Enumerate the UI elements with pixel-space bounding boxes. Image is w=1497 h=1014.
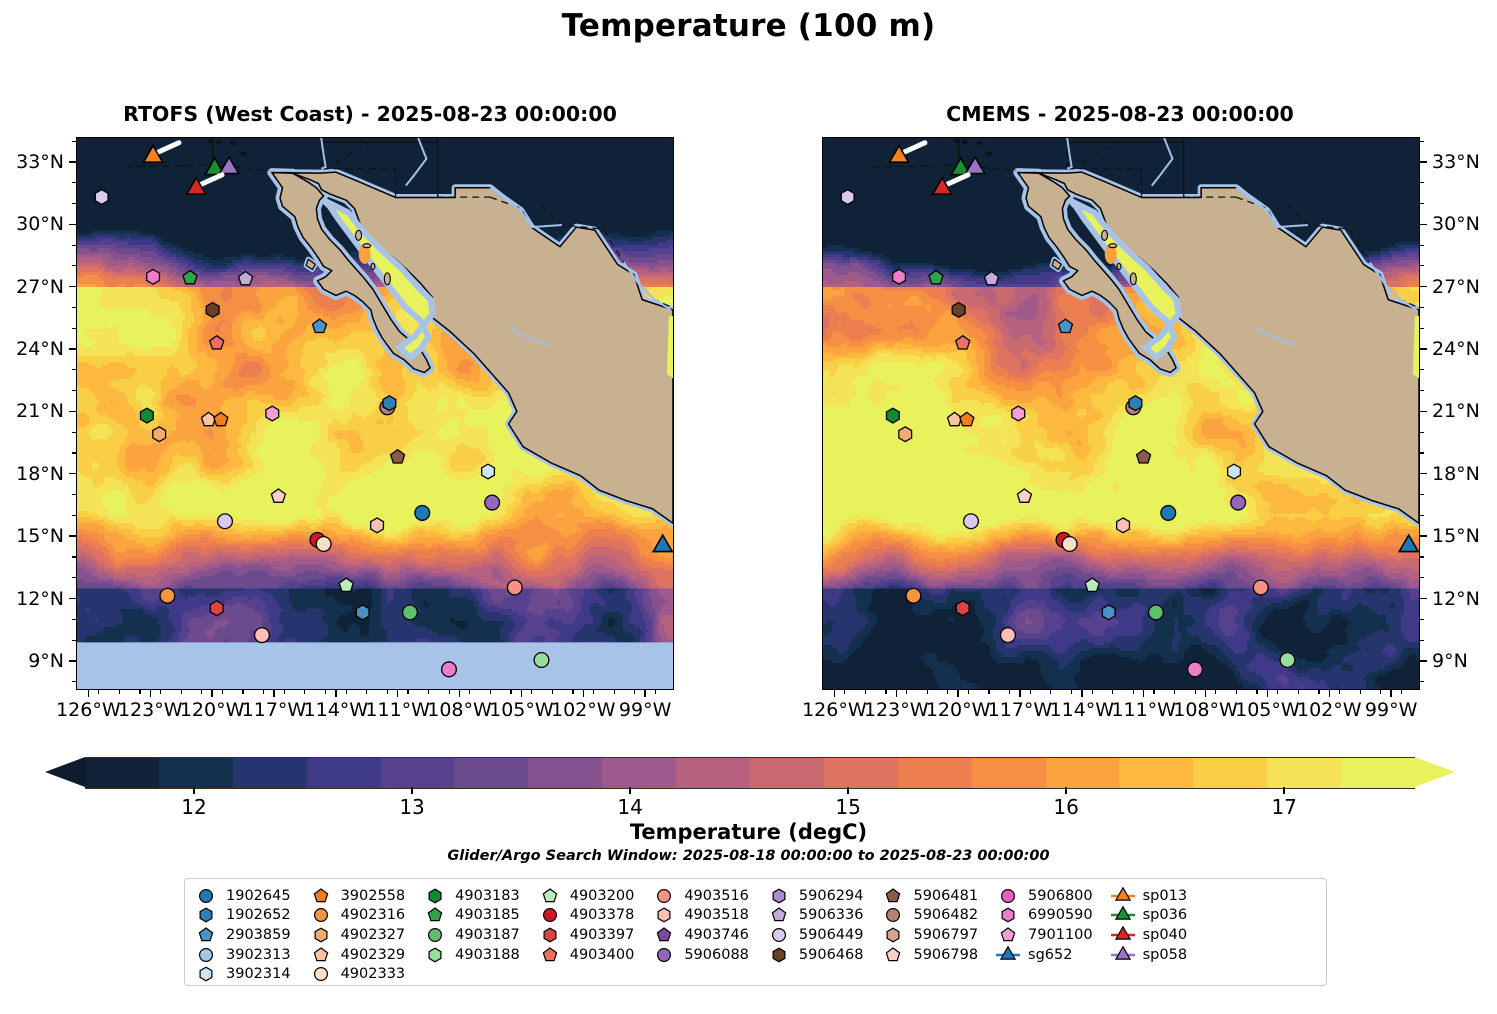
x-tick-label: 99°W — [1365, 699, 1417, 721]
y-minor-tick — [1420, 640, 1424, 641]
y-tick — [1420, 286, 1427, 287]
colorbar-segment — [159, 758, 233, 788]
x-tick-label: 123°W — [864, 699, 929, 721]
colorbar-segment — [1341, 758, 1415, 788]
legend-label: sp013 — [1143, 888, 1187, 904]
x-tick — [1390, 690, 1391, 697]
x-minor-tick — [885, 690, 886, 694]
colorbar-tick — [1065, 787, 1067, 794]
colorbar-tick — [193, 787, 195, 794]
hexagon-marker-icon — [308, 926, 334, 944]
colorbar-tick-label: 13 — [399, 795, 424, 819]
x-tick-label: 123°W — [118, 699, 183, 721]
x-minor-tick — [614, 690, 615, 694]
circle-marker-icon — [651, 887, 677, 905]
x-minor-tick — [634, 690, 635, 694]
legend-item-7901100[interactable]: 7901100 — [995, 925, 1093, 945]
y-tick-label: 30°N — [1432, 213, 1480, 235]
x-tick-label: 102°W — [1297, 699, 1362, 721]
colorbar-tick-label: 15 — [835, 795, 860, 819]
legend-item-5906481[interactable]: 5906481 — [880, 886, 978, 906]
legend-item-4902316[interactable]: 4902316 — [308, 906, 406, 926]
hexagon-marker-icon — [766, 946, 792, 964]
x-tick-label: 108°W — [427, 699, 492, 721]
x-minor-tick — [1318, 690, 1319, 694]
legend-item-4902327[interactable]: 4902327 — [308, 925, 406, 945]
x-tick-label: 120°W — [926, 699, 991, 721]
colorbar-segment — [1193, 758, 1267, 788]
legend-item-4903400[interactable]: 4903400 — [537, 945, 635, 965]
platform-legend: 1902645190265229038593902313390231439025… — [184, 878, 1327, 986]
legend-label: 4903400 — [570, 947, 635, 963]
x-minor-tick — [1092, 690, 1093, 694]
x-tick-label: 117°W — [988, 699, 1053, 721]
y-tick — [69, 535, 76, 536]
legend-item-1902652[interactable]: 1902652 — [193, 906, 291, 926]
x-minor-tick — [1030, 690, 1031, 694]
x-tick — [1205, 690, 1206, 697]
x-tick — [1081, 690, 1082, 697]
legend-label: 4903187 — [455, 927, 520, 943]
x-tick — [644, 690, 645, 697]
map-panel-rtofs[interactable] — [76, 137, 674, 690]
y-minor-tick — [1420, 390, 1424, 391]
y-tick — [69, 598, 76, 599]
legend-label: sp040 — [1143, 927, 1187, 943]
x-minor-tick — [510, 690, 511, 694]
y-minor-tick — [72, 182, 76, 183]
colorbar-gradient — [85, 757, 1415, 789]
legend-label: sg652 — [1028, 947, 1072, 963]
x-minor-tick — [407, 690, 408, 694]
x-minor-tick — [304, 690, 305, 694]
triangle-line-marker-icon — [995, 946, 1021, 964]
legend-label: 5906800 — [1028, 888, 1093, 904]
x-tick — [459, 690, 460, 697]
legend-item-1902645[interactable]: 1902645 — [193, 886, 291, 906]
x-tick-label: 108°W — [1173, 699, 1238, 721]
x-tick — [273, 690, 274, 697]
pentagon-marker-icon — [766, 906, 792, 924]
x-minor-tick — [160, 690, 161, 694]
y-tick-label: 9°N — [1432, 650, 1468, 672]
legend-item-4902329[interactable]: 4902329 — [308, 945, 406, 965]
pentagon-marker-icon — [880, 887, 906, 905]
y-tick-label: 18°N — [0, 463, 64, 485]
x-minor-tick — [1050, 690, 1051, 694]
x-minor-tick — [552, 690, 553, 694]
y-minor-tick — [1420, 494, 1424, 495]
x-tick-label: 105°W — [1235, 699, 1300, 721]
y-tick — [69, 286, 76, 287]
x-tick-label: 99°W — [619, 699, 671, 721]
legend-item-5906468[interactable]: 5906468 — [766, 945, 864, 965]
y-minor-tick — [72, 432, 76, 433]
y-minor-tick — [72, 203, 76, 204]
legend-label: 1902652 — [226, 907, 291, 923]
legend-item-3902313[interactable]: 3902313 — [193, 945, 291, 965]
colorbar-segment — [1046, 758, 1120, 788]
legend-label: 3902314 — [226, 966, 291, 982]
x-tick — [957, 690, 958, 697]
pentagon-marker-icon — [537, 887, 563, 905]
x-minor-tick — [98, 690, 99, 694]
legend-item-4903746[interactable]: 4903746 — [651, 925, 749, 945]
colorbar-tick-label: 14 — [617, 795, 642, 819]
y-minor-tick — [1420, 432, 1424, 433]
x-minor-tick — [531, 690, 532, 694]
legend-item-4902333[interactable]: 4902333 — [308, 964, 406, 984]
triangle-line-marker-icon — [1110, 946, 1136, 964]
x-minor-tick — [181, 690, 182, 694]
triangle-line-marker-icon — [1110, 906, 1136, 924]
x-tick-label: 111°W — [365, 699, 430, 721]
y-minor-tick — [72, 640, 76, 641]
pentagon-marker-icon — [422, 906, 448, 924]
colorbar-under-arrow — [45, 757, 85, 787]
x-minor-tick — [449, 690, 450, 694]
y-tick — [69, 473, 76, 474]
circle-marker-icon — [308, 965, 334, 983]
colorbar-segment — [233, 758, 307, 788]
x-minor-tick — [844, 690, 845, 694]
y-tick-label: 9°N — [0, 650, 64, 672]
legend-item-4903397[interactable]: 4903397 — [537, 925, 635, 945]
x-minor-tick — [1380, 690, 1381, 694]
colorbar-segment — [824, 758, 898, 788]
y-tick — [1420, 473, 1427, 474]
pentagon-marker-icon — [308, 946, 334, 964]
pentagon-marker-icon — [651, 926, 677, 944]
legend-item-sp036[interactable]: sp036 — [1110, 906, 1187, 926]
x-tick — [583, 690, 584, 697]
y-minor-tick — [1420, 265, 1424, 266]
legend-label: 5906468 — [799, 947, 864, 963]
figure-suptitle: Temperature (100 m) — [0, 8, 1497, 44]
legend-label: 5906449 — [799, 927, 864, 943]
x-tick-label: 102°W — [551, 699, 616, 721]
x-minor-tick — [988, 690, 989, 694]
x-minor-tick — [865, 690, 866, 694]
x-minor-tick — [139, 690, 140, 694]
y-tick-label: 24°N — [1432, 338, 1480, 360]
legend-label: 5906336 — [799, 907, 864, 923]
x-minor-tick — [1153, 690, 1154, 694]
y-minor-tick — [1420, 369, 1424, 370]
hexagon-marker-icon — [422, 887, 448, 905]
legend-label: 4903397 — [570, 927, 635, 943]
hexagon-marker-icon — [995, 906, 1021, 924]
colorbar-tick — [1283, 787, 1285, 794]
legend-item-2903859[interactable]: 2903859 — [193, 925, 291, 945]
y-tick — [1420, 660, 1427, 661]
colorbar-tick-label: 17 — [1271, 795, 1296, 819]
legend-grid: 1902645190265229038593902313390231439025… — [193, 886, 1187, 984]
legend-label: 4902329 — [341, 947, 406, 963]
y-minor-tick — [1420, 577, 1424, 578]
legend-label: 6990590 — [1028, 907, 1093, 923]
y-minor-tick — [72, 328, 76, 329]
cmems-temperature-field — [823, 138, 1419, 689]
y-minor-tick — [72, 681, 76, 682]
x-tick-label: 126°W — [56, 699, 121, 721]
x-minor-tick — [1195, 690, 1196, 694]
x-tick — [1019, 690, 1020, 697]
x-minor-tick — [1360, 690, 1361, 694]
hexagon-marker-icon — [193, 965, 219, 983]
triangle-line-marker-icon — [1110, 926, 1136, 944]
x-tick — [896, 690, 897, 697]
x-minor-tick — [366, 690, 367, 694]
x-tick — [397, 690, 398, 697]
y-minor-tick — [72, 452, 76, 453]
x-tick — [335, 690, 336, 697]
legend-item-3902314[interactable]: 3902314 — [193, 964, 291, 984]
legend-label: 5906088 — [684, 947, 749, 963]
y-minor-tick — [72, 307, 76, 308]
y-tick-label: 24°N — [0, 338, 64, 360]
colorbar-tick-label: 16 — [1053, 795, 1078, 819]
search-window-caption: Glider/Argo Search Window: 2025-08-18 00… — [0, 848, 1497, 864]
legend-item-6990590[interactable]: 6990590 — [995, 906, 1093, 926]
y-minor-tick — [1420, 307, 1424, 308]
y-minor-tick — [72, 556, 76, 557]
x-minor-tick — [222, 690, 223, 694]
x-tick — [211, 690, 212, 697]
colorbar-tick — [411, 787, 413, 794]
pentagon-marker-icon — [537, 946, 563, 964]
x-minor-tick — [1401, 690, 1402, 694]
y-tick — [69, 161, 76, 162]
colorbar-label: Temperature (degC) — [0, 820, 1497, 844]
circle-marker-icon — [537, 906, 563, 924]
legend-label: 3902313 — [226, 947, 291, 963]
y-tick-label: 27°N — [0, 276, 64, 298]
hexagon-marker-icon — [193, 906, 219, 924]
circle-marker-icon — [308, 906, 334, 924]
x-minor-tick — [201, 690, 202, 694]
y-tick — [69, 411, 76, 412]
colorbar-segment — [750, 758, 824, 788]
legend-label: 4903185 — [455, 907, 520, 923]
y-tick-label: 12°N — [1432, 588, 1480, 610]
y-minor-tick — [72, 245, 76, 246]
legend-label: 2903859 — [226, 927, 291, 943]
x-minor-tick — [1133, 690, 1134, 694]
legend-item-5906449[interactable]: 5906449 — [766, 925, 864, 945]
x-minor-tick — [242, 690, 243, 694]
legend-label: 4903516 — [684, 888, 749, 904]
x-minor-tick — [119, 690, 120, 694]
x-minor-tick — [1277, 690, 1278, 694]
y-minor-tick — [72, 494, 76, 495]
circle-marker-icon — [422, 926, 448, 944]
legend-item-4903183[interactable]: 4903183 — [422, 886, 520, 906]
colorbar-segment — [1119, 758, 1193, 788]
x-minor-tick — [387, 690, 388, 694]
legend-label: sp058 — [1143, 947, 1187, 963]
y-tick — [1420, 224, 1427, 225]
legend-item-3902558[interactable]: 3902558 — [308, 886, 406, 906]
hexagon-marker-icon — [880, 926, 906, 944]
legend-label: 5906294 — [799, 888, 864, 904]
y-tick-label: 27°N — [1432, 276, 1480, 298]
y-tick-label: 30°N — [0, 213, 64, 235]
x-minor-tick — [325, 690, 326, 694]
colorbar-segment — [307, 758, 381, 788]
y-minor-tick — [1420, 556, 1424, 557]
x-minor-tick — [1339, 690, 1340, 694]
colorbar-segment — [454, 758, 528, 788]
x-minor-tick — [655, 690, 656, 694]
y-tick — [1420, 598, 1427, 599]
y-minor-tick — [72, 369, 76, 370]
y-tick — [69, 224, 76, 225]
y-tick-label: 21°N — [1432, 400, 1480, 422]
legend-label: 5906481 — [913, 888, 978, 904]
y-minor-tick — [1420, 681, 1424, 682]
colorbar-segment — [898, 758, 972, 788]
legend-label: 5906798 — [913, 947, 978, 963]
colorbar-segment — [381, 758, 455, 788]
x-tick — [834, 690, 835, 697]
y-tick — [1420, 161, 1427, 162]
x-tick — [521, 690, 522, 697]
map-panel-cmems[interactable] — [822, 137, 1420, 690]
y-tick — [69, 348, 76, 349]
colorbar-tick-label: 12 — [181, 795, 206, 819]
x-tick — [1143, 690, 1144, 697]
legend-item-5906294[interactable]: 5906294 — [766, 886, 864, 906]
y-minor-tick — [72, 515, 76, 516]
y-minor-tick — [1420, 619, 1424, 620]
x-tick — [150, 690, 151, 697]
legend-item-4903518[interactable]: 4903518 — [651, 906, 749, 926]
legend-item-5906336[interactable]: 5906336 — [766, 906, 864, 926]
colorbar-over-arrow — [1415, 757, 1455, 787]
x-minor-tick — [1174, 690, 1175, 694]
legend-item-5906800[interactable]: 5906800 — [995, 886, 1093, 906]
y-minor-tick — [72, 390, 76, 391]
x-tick — [88, 690, 89, 697]
legend-label: 7901100 — [1028, 927, 1093, 943]
x-tick-label: 105°W — [489, 699, 554, 721]
legend-label: 4902316 — [341, 907, 406, 923]
y-tick-label: 15°N — [1432, 525, 1480, 547]
y-minor-tick — [1420, 182, 1424, 183]
x-minor-tick — [906, 690, 907, 694]
legend-label: 5906797 — [913, 927, 978, 943]
circle-marker-icon — [880, 906, 906, 924]
pentagon-marker-icon — [308, 887, 334, 905]
x-minor-tick — [968, 690, 969, 694]
y-tick-label: 15°N — [0, 525, 64, 547]
legend-item-5906482[interactable]: 5906482 — [880, 906, 978, 926]
x-minor-tick — [490, 690, 491, 694]
hexagon-marker-icon — [422, 946, 448, 964]
legend-label: 4903200 — [570, 888, 635, 904]
y-minor-tick — [72, 265, 76, 266]
colorbar-segment — [85, 758, 159, 788]
x-tick-label: 117°W — [242, 699, 307, 721]
legend-label: 4903183 — [455, 888, 520, 904]
x-tick — [1329, 690, 1330, 697]
hexagon-marker-icon — [537, 926, 563, 944]
x-minor-tick — [263, 690, 264, 694]
y-minor-tick — [1420, 328, 1424, 329]
legend-label: 4903746 — [684, 927, 749, 943]
x-minor-tick — [947, 690, 948, 694]
colorbar-tick — [629, 787, 631, 794]
legend-item-5906797[interactable]: 5906797 — [880, 925, 978, 945]
rtofs-temperature-field — [77, 138, 673, 689]
y-minor-tick — [1420, 452, 1424, 453]
y-tick-label: 33°N — [0, 151, 64, 173]
x-minor-tick — [1112, 690, 1113, 694]
legend-item-sg652[interactable]: sg652 — [995, 945, 1093, 965]
colorbar-segment — [972, 758, 1046, 788]
legend-label: 4902327 — [341, 927, 406, 943]
y-tick-label: 12°N — [0, 588, 64, 610]
legend-item-5906088[interactable]: 5906088 — [651, 945, 749, 965]
x-minor-tick — [1236, 690, 1237, 694]
pentagon-marker-icon — [193, 926, 219, 944]
x-minor-tick — [346, 690, 347, 694]
legend-item-5906798[interactable]: 5906798 — [880, 945, 978, 965]
y-minor-tick — [1420, 203, 1424, 204]
circle-marker-icon — [651, 946, 677, 964]
legend-item-4903516[interactable]: 4903516 — [651, 886, 749, 906]
hexagon-marker-icon — [766, 887, 792, 905]
legend-item-4903200[interactable]: 4903200 — [537, 886, 635, 906]
hexagon-marker-icon — [651, 906, 677, 924]
x-tick-label: 120°W — [180, 699, 245, 721]
x-minor-tick — [1009, 690, 1010, 694]
x-minor-tick — [593, 690, 594, 694]
x-tick-label: 114°W — [1050, 699, 1115, 721]
y-minor-tick — [1420, 515, 1424, 516]
colorbar-tick — [847, 787, 849, 794]
legend-item-4903378[interactable]: 4903378 — [537, 906, 635, 926]
legend-item-sp013[interactable]: sp013 — [1110, 886, 1187, 906]
y-tick — [1420, 348, 1427, 349]
y-minor-tick — [1420, 245, 1424, 246]
legend-item-4903187[interactable]: 4903187 — [422, 925, 520, 945]
y-tick — [69, 660, 76, 661]
legend-item-sp040[interactable]: sp040 — [1110, 925, 1187, 945]
x-minor-tick — [1298, 690, 1299, 694]
y-minor-tick — [72, 141, 76, 142]
legend-label: sp036 — [1143, 907, 1187, 923]
legend-label: 4903188 — [455, 947, 520, 963]
x-tick-label: 126°W — [802, 699, 867, 721]
y-tick-label: 33°N — [1432, 151, 1480, 173]
x-tick-label: 111°W — [1111, 699, 1176, 721]
panel-title-rtofs: RTOFS (West Coast) - 2025-08-23 00:00:00 — [40, 102, 700, 126]
legend-label: 4903378 — [570, 907, 635, 923]
legend-item-4903185[interactable]: 4903185 — [422, 906, 520, 926]
circle-marker-icon — [766, 926, 792, 944]
y-minor-tick — [72, 577, 76, 578]
x-minor-tick — [1215, 690, 1216, 694]
colorbar-segment — [602, 758, 676, 788]
x-tick — [1267, 690, 1268, 697]
x-minor-tick — [469, 690, 470, 694]
legend-item-sp058[interactable]: sp058 — [1110, 945, 1187, 965]
legend-item-4903188[interactable]: 4903188 — [422, 945, 520, 965]
y-tick-label: 18°N — [1432, 463, 1480, 485]
circle-marker-icon — [995, 887, 1021, 905]
